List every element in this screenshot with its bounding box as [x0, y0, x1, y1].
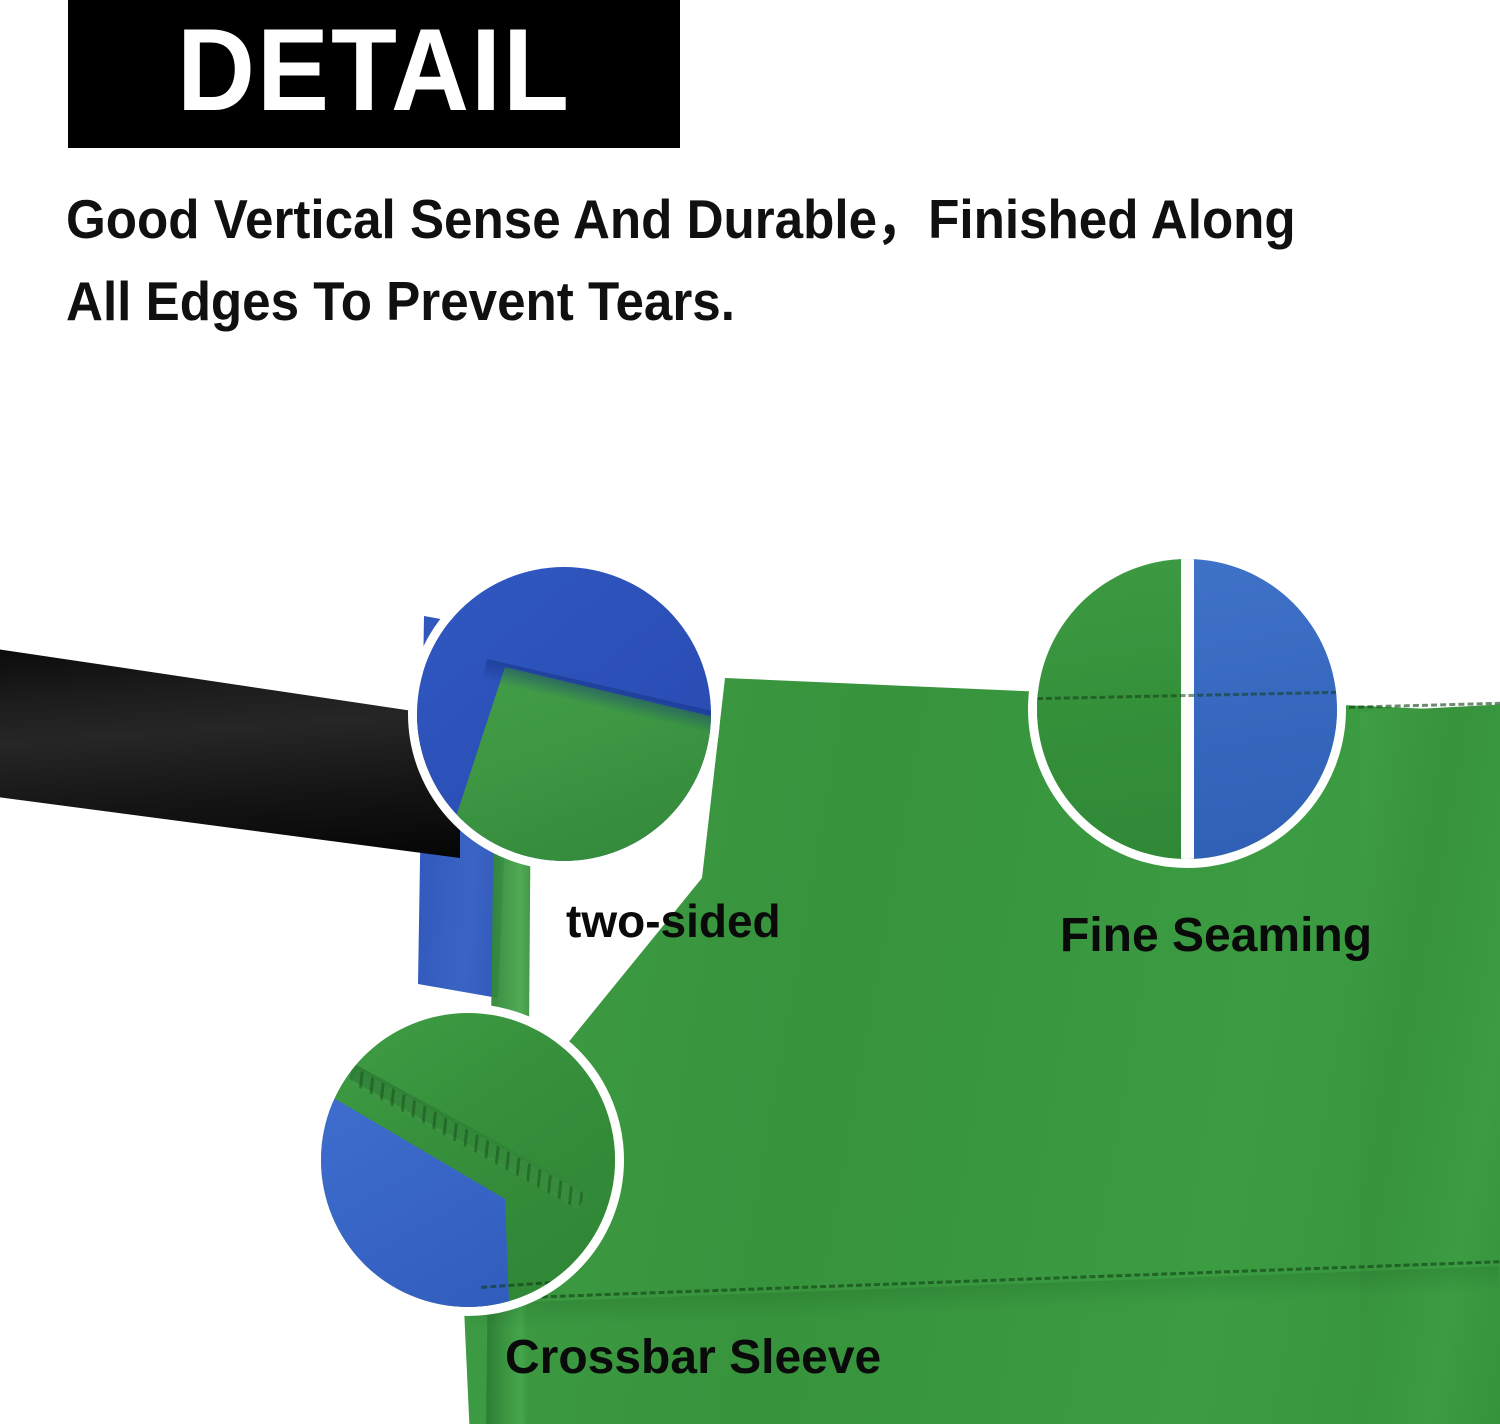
callout-label-crossbar-sleeve: Crossbar Sleeve — [505, 1334, 881, 1382]
callout-circle-fine-seaming-content — [1037, 559, 1337, 859]
center-seam-divider — [1181, 559, 1194, 859]
callout-circle-fine-seaming — [1028, 550, 1346, 868]
callout-circle-two-sided-content — [417, 567, 711, 861]
seam-blue-half — [1187, 559, 1337, 859]
detail-banner: DETAIL — [68, 0, 680, 148]
callout-circle-crossbar-sleeve — [312, 1004, 624, 1316]
product-detail-image: DETAIL Good Vertical Sense And Durable，F… — [0, 0, 1500, 1424]
callout-circle-two-sided — [408, 558, 720, 870]
detail-banner-label: DETAIL — [177, 12, 571, 129]
seam-green-half — [1037, 559, 1187, 859]
black-crossbar-pole — [0, 648, 460, 858]
product-photo: two-sided Fine Seaming Crossbar Sleeve — [0, 420, 1500, 1424]
callout-circle-crossbar-sleeve-content — [321, 1013, 615, 1307]
subtitle-text: Good Vertical Sense And Durable，Finished… — [66, 178, 1349, 342]
callout-label-two-sided: two-sided — [566, 898, 781, 944]
callout-label-fine-seaming: Fine Seaming — [1060, 912, 1372, 960]
green-fabric-right-section — [1360, 704, 1500, 1424]
